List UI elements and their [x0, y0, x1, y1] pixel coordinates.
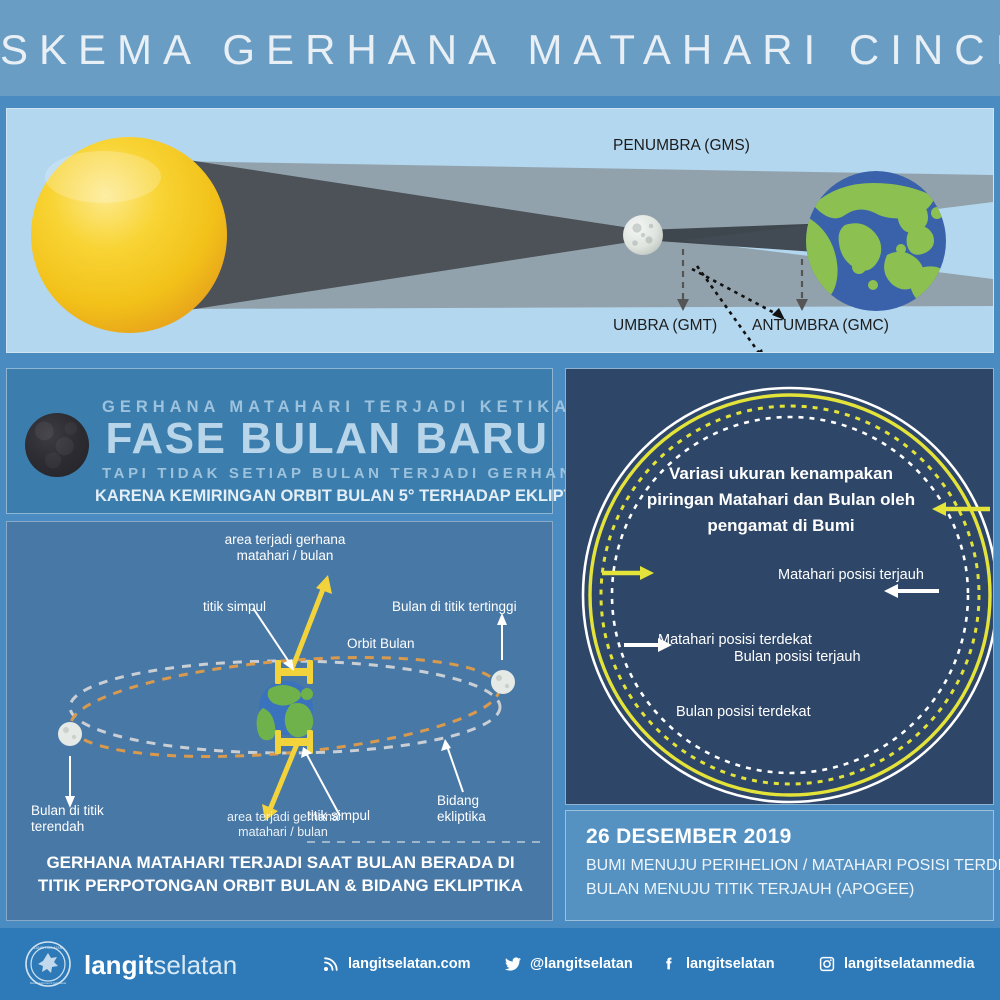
- apparent-size-rings-svg: [566, 369, 993, 804]
- page-title: SKEMA GERHANA MATAHARI CINCIN: [0, 26, 1000, 74]
- new-moon-phase-panel: GERHANA MATAHARI TERJADI KETIKA FASE BUL…: [6, 368, 553, 514]
- new-moon-icon: [25, 413, 89, 477]
- ring-yellow-solid: [590, 395, 990, 795]
- label-node-top: titik simpul: [203, 599, 266, 615]
- label-node-bottom: titik simpul: [307, 808, 370, 824]
- label-eclipse-area-top: area terjadi gerhana matahari / bulan: [190, 532, 380, 565]
- facebook-icon: [660, 955, 677, 972]
- rss-icon: [322, 955, 339, 972]
- label-sun-near: Matahari posisi terdekat: [658, 632, 812, 648]
- moon-low-marker: [58, 722, 82, 746]
- date-detail-perihelion: BUMI MENUJU PERIHELION / MATAHARI POSISI…: [586, 857, 1000, 875]
- label-penumbra: PENUMBRA (GMS): [613, 137, 750, 155]
- label-moon-far: Bulan posisi terjauh: [734, 649, 861, 665]
- footer-bar: LANGITSELATAN Media Astronomi Indonesia …: [0, 928, 1000, 1000]
- svg-text:LANGITSELATAN: LANGITSELATAN: [34, 946, 63, 950]
- label-ecliptic-plane: Bidang ekliptika: [437, 793, 486, 826]
- eclipse-diagram-svg: [7, 109, 993, 352]
- moon-orbit-panel: area terjadi gerhana matahari / bulan ti…: [6, 521, 553, 921]
- pointer-arrowhead-ecliptic: [441, 739, 451, 751]
- label-umbra: UMBRA (GMT): [613, 317, 717, 335]
- label-antumbra: ANTUMBRA (GMC): [752, 317, 889, 335]
- header-bar: SKEMA GERHANA MATAHARI CINCIN: [0, 0, 1000, 96]
- svg-text:Media Astronomi Indonesia: Media Astronomi Indonesia: [30, 981, 67, 985]
- instagram-icon: [818, 955, 835, 972]
- social-label-instagram: langitselatanmedia: [844, 956, 975, 972]
- apparent-size-variation-panel: Variasi ukuran kenampakan piringan Matah…: [565, 368, 994, 805]
- brand-wordmark-light: selatan: [153, 950, 237, 980]
- social-link-instagram[interactable]: langitselatanmedia: [818, 955, 975, 972]
- label-moon-high: Bulan di titik tertinggi: [392, 599, 517, 615]
- infographic-root: SKEMA GERHANA MATAHARI CINCIN: [0, 0, 1000, 1000]
- social-label-twitter: @langitselatan: [530, 956, 633, 972]
- twitter-icon: [504, 955, 521, 972]
- label-moon-low: Bulan di titik terendah: [31, 803, 104, 836]
- fase-subline: TAPI TIDAK SETIAP BULAN TERJADI GERHANA: [102, 465, 552, 482]
- moon-high-marker: [491, 670, 515, 694]
- orbit-panel-caption: GERHANA MATAHARI TERJADI SAAT BULAN BERA…: [7, 852, 554, 898]
- brand-wordmark: langitselatan: [84, 950, 237, 981]
- social-label-website: langitselatan.com: [348, 956, 470, 972]
- label-moon-near: Bulan posisi terdekat: [676, 704, 811, 720]
- penumbra-arrowhead-2: [753, 349, 765, 352]
- fase-headline: FASE BULAN BARU: [102, 417, 552, 461]
- arrow-sun-near: [602, 566, 654, 580]
- social-label-facebook: langitselatan: [686, 956, 775, 972]
- langitselatan-seal-logo: LANGITSELATAN Media Astronomi Indonesia: [24, 940, 72, 988]
- arrow-moon-far: [884, 584, 939, 598]
- date-detail-apogee: BULAN MENUJU TITIK TERJAUH (APOGEE): [586, 881, 914, 899]
- social-link-facebook[interactable]: langitselatan: [660, 955, 775, 972]
- label-sun-far: Matahari posisi terjauh: [778, 567, 924, 583]
- date-title: 26 DESEMBER 2019: [586, 825, 792, 849]
- date-info-panel: 26 DESEMBER 2019 BUMI MENUJU PERIHELION …: [565, 810, 994, 921]
- ring-white-solid-outer: [583, 388, 993, 802]
- label-orbit-bulan: Orbit Bulan: [347, 636, 415, 652]
- ring-panel-title: Variasi ukuran kenampakan piringan Matah…: [616, 461, 946, 538]
- earth-icon-small: [257, 681, 314, 740]
- social-link-website[interactable]: langitselatan.com: [322, 955, 470, 972]
- brand-wordmark-bold: langit: [84, 950, 153, 980]
- fase-note: KARENA KEMIRINGAN ORBIT BULAN 5° TERHADA…: [95, 487, 555, 506]
- social-link-twitter[interactable]: @langitselatan: [504, 955, 633, 972]
